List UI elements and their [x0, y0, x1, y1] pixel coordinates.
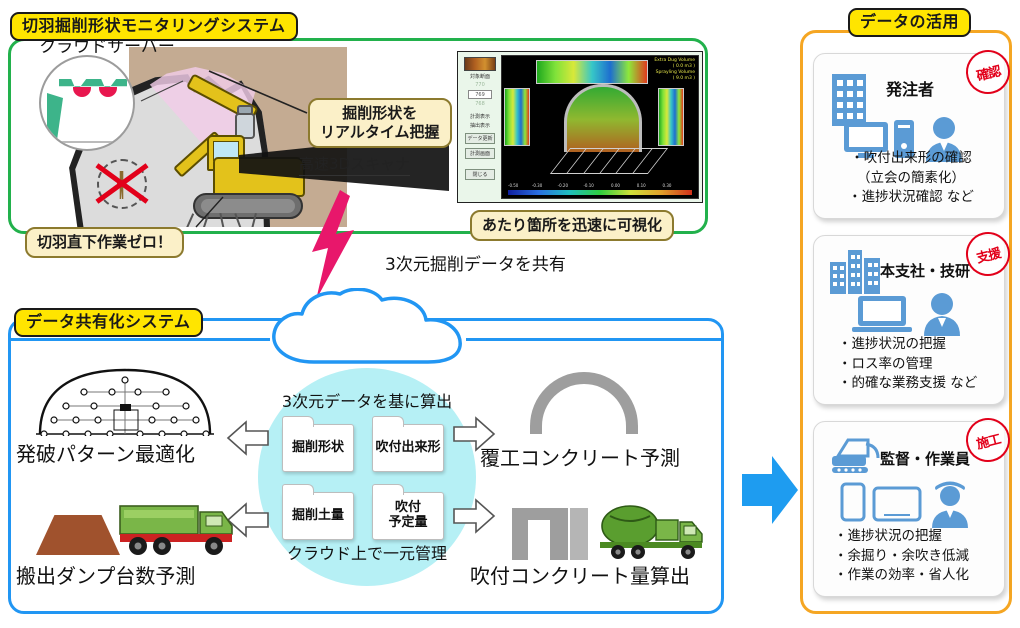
monitoring-system-tab-label: 切羽掘削形状モニタリングシステム	[10, 12, 298, 41]
cloud-connector-line-right	[466, 338, 724, 341]
callout-zero-work-under-face: 切羽直下作業ゼロ！	[25, 227, 184, 258]
cloud-connector-line-left	[8, 338, 270, 341]
tunnel-arch-3d	[564, 84, 642, 152]
lining-concrete-prediction-label: 覆工コンクリート予測	[480, 442, 680, 471]
circle-top-caption: 3次元データを基に算出	[258, 388, 476, 412]
usage-card-headoffice: 支援 本支社・技研	[813, 235, 1005, 405]
measure-screen-button[interactable]: 計測画面	[465, 148, 495, 159]
folder-excavated-soil-volume[interactable]: 掘削土量	[282, 492, 354, 540]
diagram-canvas: 切羽掘削形状モニタリングシステム データ共有化システム データの活用	[0, 0, 1020, 628]
dump-count-prediction-label: 搬出ダンプ台数予測	[16, 560, 195, 589]
stamp-confirm: 確認	[961, 45, 1014, 98]
usage-card-client: 確認 発注者	[813, 53, 1005, 219]
shotcrete-wall-icon	[512, 508, 590, 560]
section-number-stepper[interactable]: 769	[468, 90, 492, 99]
city-buildings-icon	[828, 246, 884, 294]
tunnel-floor-grid	[550, 148, 668, 174]
section-value-above: 770	[475, 82, 485, 88]
ground-hatching	[185, 215, 285, 227]
blast-pattern-label: 発破パターン最適化	[16, 438, 195, 467]
folder-label-line1: 吹付	[395, 500, 421, 515]
arrow-to-blast-pattern	[226, 418, 270, 458]
shotcrete-volume-calc-label: 吹付コンクリート量算出	[470, 560, 690, 589]
share-3d-data-text: 3次元掘削データを共有	[385, 250, 566, 275]
data-usage-tab-label: データの活用	[848, 8, 971, 37]
dump-truck-icon	[118, 498, 246, 558]
colorbar-tick-labels: -0.50-0.30 -0.20-0.10 0.000.10 0.30	[508, 183, 692, 189]
tunnel-3d-visualization: Extra Dug Volume ( 0.0 m3 ) Sprayling Vo…	[501, 55, 699, 199]
monitor-control-panel[interactable]: 対象断面 770 769 768 計測表示 抽出表示 データ更新 計測画面 閉じ…	[461, 55, 499, 199]
callout-visualize-contact-points: あたり箇所を迅速に可視化	[470, 210, 674, 241]
usage-card-bullets: ・吹付出来形の確認 （立会の簡素化） ・進捗状況確認 など	[824, 149, 998, 208]
target-section-label: 対象断面	[470, 73, 490, 80]
face-photo-thumbnail	[464, 57, 496, 71]
excavator-icon	[828, 434, 884, 476]
arrow-to-shotcrete-volume	[452, 496, 496, 536]
data-usage-panel: 確認 発注者	[800, 30, 1012, 614]
radio-measure-display[interactable]: 計測表示	[470, 113, 490, 120]
lightning-bolt-icon	[310, 190, 356, 300]
cloud-server-shape	[262, 288, 476, 366]
usage-card-title: 監督・作業員	[880, 448, 970, 469]
high-speed-3d-scanner-label: 高速3Dスキャナ	[299, 153, 410, 176]
radio-extract-display[interactable]: 抽出表示	[470, 122, 490, 129]
circle-bottom-caption: クラウド上で一元管理	[258, 540, 476, 564]
usage-card-bullets: ・進捗状況の把握 ・ロス率の管理 ・的確な業務支援 など	[824, 335, 998, 394]
no-worker-zone-icon	[93, 155, 151, 211]
volume-overlay-text: Extra Dug Volume ( 0.0 m3 ) Sprayling Vo…	[654, 58, 695, 82]
folder-planned-spray-volume[interactable]: 吹付 予定量	[372, 492, 444, 540]
folder-shotcrete-asbuilt[interactable]: 吹付出来形	[372, 424, 444, 472]
close-button[interactable]: 閉じる	[465, 169, 495, 180]
data-update-button[interactable]: データ更新	[465, 133, 495, 144]
usage-card-site: 施工 監督・作業員 ・進	[813, 421, 1005, 597]
folder-label-line2: 予定量	[388, 515, 427, 530]
data-sharing-system-tab-label: データ共有化システム	[14, 308, 203, 337]
flow-arrow-to-usage	[742, 452, 798, 528]
usage-card-title: 本支社・技研	[880, 260, 970, 281]
section-value-below: 768	[475, 101, 485, 107]
heatmap-right	[658, 88, 684, 146]
heatmap-colorbar	[508, 190, 692, 195]
laptop-and-person-icons	[852, 292, 980, 338]
concrete-mixer-icon	[596, 502, 708, 560]
heatmap-left	[504, 88, 530, 146]
callout-realtime-grasp: 掘削形状を リアルタイム把握	[308, 98, 452, 148]
usage-card-bullets: ・進捗状況の把握 ・余掘り・余吹き低減 ・作業の効率・省人化	[824, 527, 998, 586]
monitoring-software-screenshot: 対象断面 770 769 768 計測表示 抽出表示 データ更新 計測画面 閉じ…	[457, 51, 703, 203]
mobile-tablet-worker-icons	[840, 480, 988, 530]
usage-card-title: 発注者	[886, 76, 934, 100]
folder-excavation-shape[interactable]: 掘削形状	[282, 424, 354, 472]
blast-pattern-icon	[36, 368, 214, 436]
unrolled-heatmap-top	[536, 60, 648, 84]
